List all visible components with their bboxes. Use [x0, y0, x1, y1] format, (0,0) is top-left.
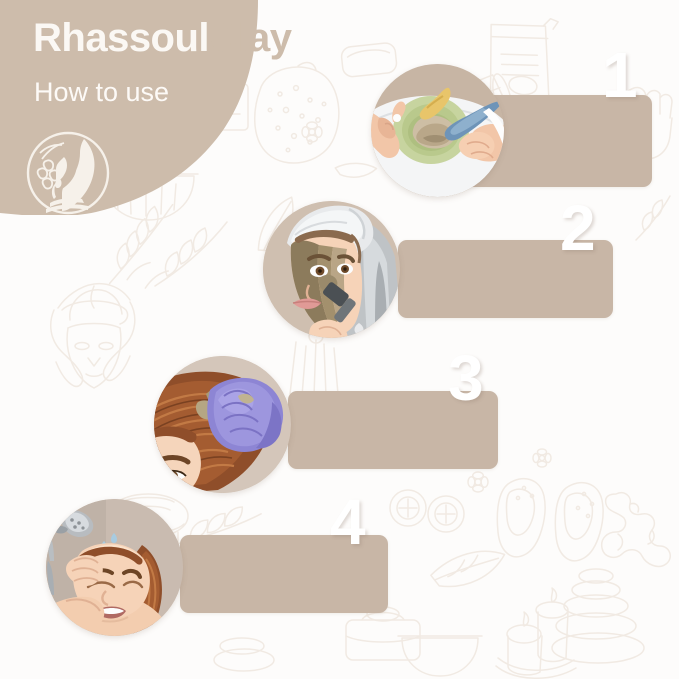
infographic-canvas: RhassoulClay How to use 1	[0, 0, 679, 679]
cucumber-slices-icon	[390, 490, 464, 532]
step-1-number: 1	[602, 50, 638, 101]
flower-blossom-icon-5	[533, 449, 551, 467]
spa-face-massage-icon	[51, 284, 135, 388]
step-2-illustration	[263, 201, 400, 338]
woman-profile-icon	[46, 139, 95, 213]
page-title: RhassoulClay	[33, 18, 292, 58]
flower-blossom-icon-4	[468, 472, 488, 492]
candles-icon	[496, 588, 576, 678]
step-3-number: 3	[448, 353, 484, 404]
step-4-number: 4	[330, 497, 366, 548]
spa-stones-icon-2	[214, 638, 274, 671]
brand-logo	[26, 131, 110, 215]
folded-towels-icon	[346, 607, 420, 660]
bowl-icon	[398, 636, 482, 676]
page-subtitle: How to use	[34, 79, 169, 106]
stacked-spa-stones-icon	[552, 569, 644, 663]
step-3-illustration	[154, 356, 291, 493]
ginger-root-icon	[602, 493, 671, 567]
lavender-sprig-icon-2	[155, 222, 227, 286]
step-1-illustration	[371, 64, 504, 197]
step-4-illustration	[46, 499, 183, 636]
step-2-number: 2	[560, 203, 596, 254]
page-title-primary: Rhassoul	[33, 16, 209, 60]
reeds-icon	[290, 329, 338, 396]
slippers-pair-icon	[497, 479, 603, 561]
page-title-secondary: Clay	[209, 16, 292, 60]
leaf-icon	[428, 530, 504, 605]
